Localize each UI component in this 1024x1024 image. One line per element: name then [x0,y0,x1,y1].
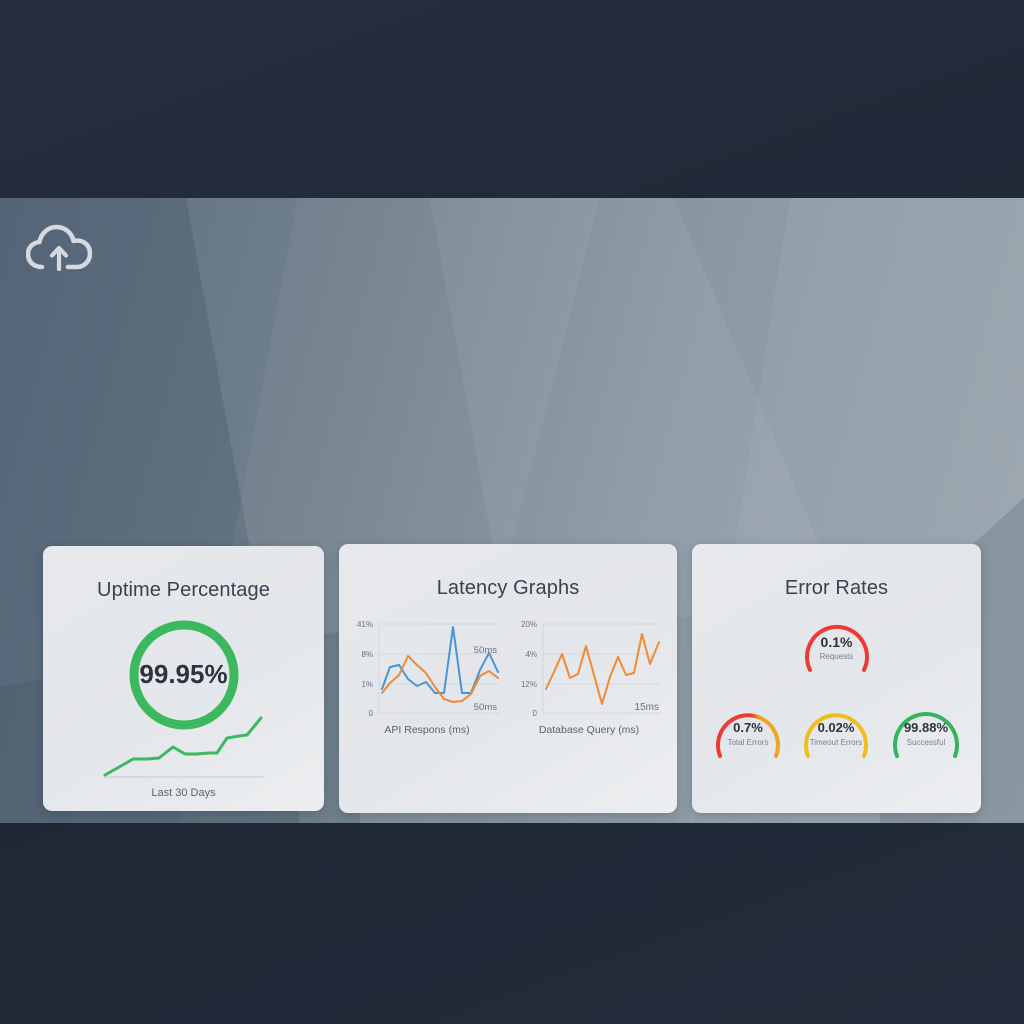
uptime-sparkline [103,714,263,782]
ytick-label: 0 [533,709,538,718]
gauge-successful: 99.88% Successful [884,700,968,762]
gauge-timeout-errors: 0.02% Timeout Errors [796,700,876,762]
gauge-total-errors: 0.7% Total Errors [708,700,788,762]
ytick-label: 20% [521,620,537,629]
ytick-label: 1% [361,680,373,689]
card-latency-graphs: Latency Graphs 41% 8% 1% 0 50ms 50ms API… [339,544,677,813]
screen: Uptime Percentage 99.95% Last 30 Days La… [0,0,1024,1024]
card-error-rates: Error Rates 0.1% Requests [692,544,981,813]
gauge-label: Timeout Errors [796,738,876,747]
ytick-label: 0 [369,709,374,718]
cloud-upload-icon [26,224,92,274]
dashboard-content-band: Uptime Percentage 99.95% Last 30 Days La… [0,198,1024,823]
ytick-label: 8% [361,650,373,659]
ytick-label: 41% [357,620,373,629]
chart-annotation: 15ms [635,702,659,713]
gauge-label: Successful [884,738,968,747]
gauge-value: 0.7% [708,720,788,735]
card-title-errors: Error Rates [692,577,981,600]
uptime-value: 99.95% [125,659,243,690]
card-title-latency: Latency Graphs [339,577,677,600]
gauge-label: Total Errors [708,738,788,747]
chart-api-response: 41% 8% 1% 0 50ms 50ms [353,616,501,721]
chart-annotation: 50ms [474,645,497,656]
chart-xlabel-database: Database Query (ms) [515,724,663,736]
gauge-value: 99.88% [884,720,968,735]
card-title-uptime: Uptime Percentage [43,579,324,602]
uptime-caption: Last 30 Days [43,787,324,799]
gauge-value: 0.02% [796,720,876,735]
ytick-label: 12% [521,680,537,689]
gauge-requests: 0.1% Requests [797,612,877,674]
chart-database-query: 20% 4% 12% 0 15ms [515,616,663,721]
ytick-label: 4% [525,650,537,659]
card-uptime-percentage: Uptime Percentage 99.95% Last 30 Days [43,546,324,811]
gauge-value: 0.1% [797,634,877,650]
chart-annotation: 50ms [474,702,497,713]
gauge-label: Requests [797,652,877,661]
chart-xlabel-api: API Respons (ms) [353,724,501,736]
